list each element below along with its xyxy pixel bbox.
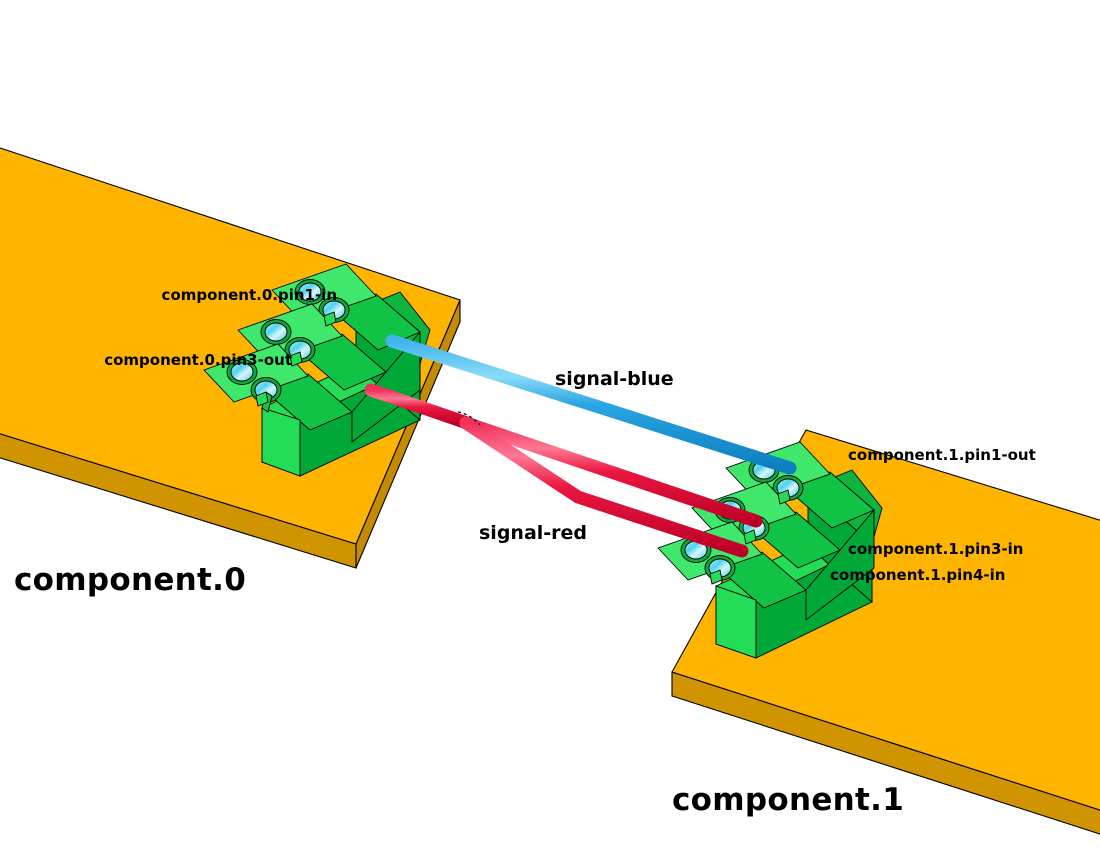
label-signal-blue: signal-blue: [555, 368, 674, 390]
component-0-group[interactable]: component.0.pin1-in component.0.pin3-out…: [0, 146, 460, 598]
wire-signal-blue[interactable]: [392, 341, 790, 468]
component-1-group[interactable]: component.1.pin1-out component.1.pin3-in…: [658, 430, 1100, 836]
title-component-0: component.0: [14, 562, 246, 598]
scene-svg: component.0.pin1-in component.0.pin3-out…: [0, 0, 1100, 850]
label-signal-red: signal-red: [479, 522, 587, 544]
label-c1-pin1: component.1.pin1-out: [848, 446, 1036, 464]
label-c0-pin1: component.0.pin1-in: [162, 286, 337, 304]
diagram-canvas: component.0.pin1-in component.0.pin3-out…: [0, 0, 1100, 850]
title-component-1: component.1: [672, 782, 904, 818]
label-c1-pin4: component.1.pin4-in: [830, 566, 1005, 584]
label-c1-pin3: component.1.pin3-in: [848, 540, 1023, 558]
blue-run: [392, 341, 790, 468]
label-c0-pin3: component.0.pin3-out: [104, 351, 292, 369]
